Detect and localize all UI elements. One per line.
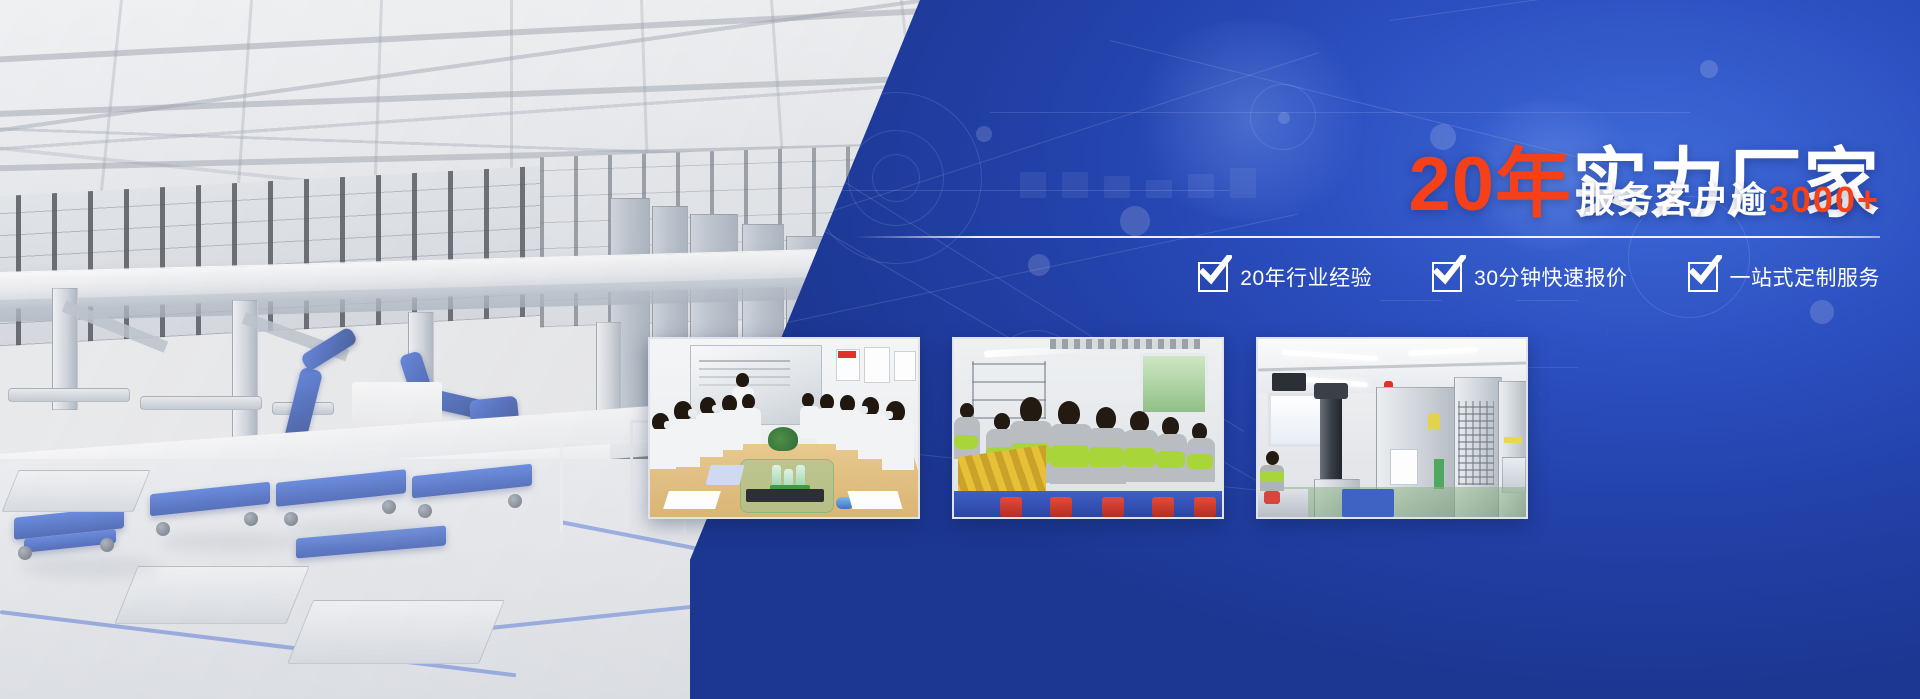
- meeting-training-room-photo: [648, 337, 920, 519]
- subtitle: 服务客户逾3000+: [1579, 182, 1880, 218]
- feature-item-experience: 20年行业经验: [1198, 262, 1372, 292]
- feature-item-quote: 30分钟快速报价: [1432, 262, 1627, 292]
- production-assembly-line-photo: [952, 337, 1224, 519]
- feature-list: 20年行业经验 30分钟快速报价 一站式定制服务: [1198, 262, 1880, 292]
- subtitle-text: 服务客户逾: [1579, 179, 1769, 220]
- cnc-machining-workshop-photo: [1256, 337, 1528, 519]
- check-icon: [1198, 262, 1228, 292]
- check-icon: [1432, 262, 1462, 292]
- feature-label: 20年行业经验: [1240, 262, 1372, 292]
- headline-highlight: 20年: [1408, 142, 1572, 227]
- feature-label: 一站式定制服务: [1730, 262, 1881, 292]
- feature-item-customization: 一站式定制服务: [1688, 262, 1881, 292]
- feature-label: 30分钟快速报价: [1474, 262, 1627, 292]
- photo-thumbnail-strip: [648, 337, 1528, 519]
- promo-banner: 20年实力厂家 服务客户逾3000+ 20年行业经验: [0, 0, 1920, 699]
- divider: [855, 236, 1880, 238]
- subtitle-highlight: 3000+: [1769, 179, 1880, 220]
- check-icon: [1688, 262, 1718, 292]
